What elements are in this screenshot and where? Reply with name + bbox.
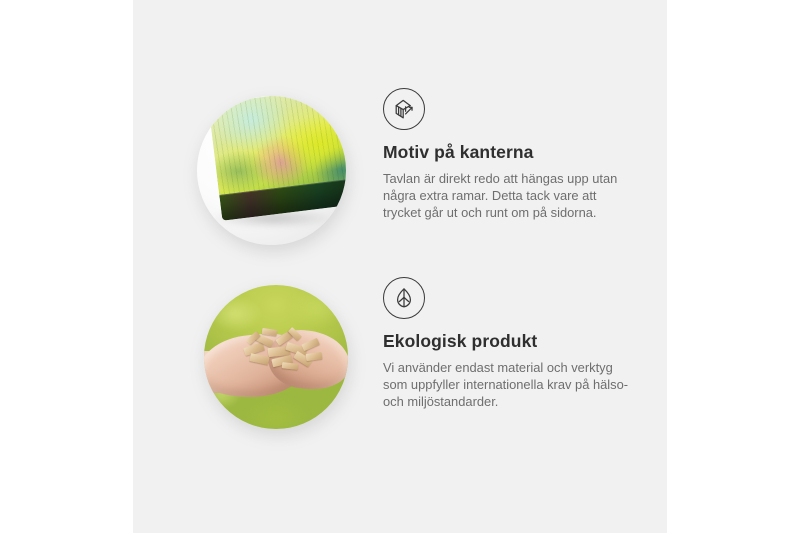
cupped-hands	[204, 329, 348, 403]
canvas-block	[208, 96, 346, 223]
print-on-edges-icon	[383, 88, 425, 130]
feature-block-ecological-product: Ekologisk produkt Vi använder endast mat…	[133, 277, 667, 447]
hands-holding-wood-chips-photo	[204, 285, 348, 429]
feature-text-column-1: Motiv på kanterna Tavlan är direkt redo …	[383, 88, 657, 221]
feature-title: Ekologisk produkt	[383, 331, 657, 353]
wood-chips-pile	[242, 329, 328, 377]
leaf-icon	[383, 277, 425, 319]
feature-description: Tavlan är direkt redo att hängas upp uta…	[383, 170, 635, 221]
feature-title: Motiv på kanterna	[383, 142, 657, 164]
canvas-print-corner-photo	[197, 96, 346, 245]
feature-block-print-on-edges: Motiv på kanterna Tavlan är direkt redo …	[133, 88, 667, 258]
page-stage: Motiv på kanterna Tavlan är direkt redo …	[0, 0, 800, 533]
feature-text-column-2: Ekologisk produkt Vi använder endast mat…	[383, 277, 657, 410]
feature-description: Vi använder endast material och verktyg …	[383, 359, 635, 410]
feature-panel: Motiv på kanterna Tavlan är direkt redo …	[133, 0, 667, 533]
